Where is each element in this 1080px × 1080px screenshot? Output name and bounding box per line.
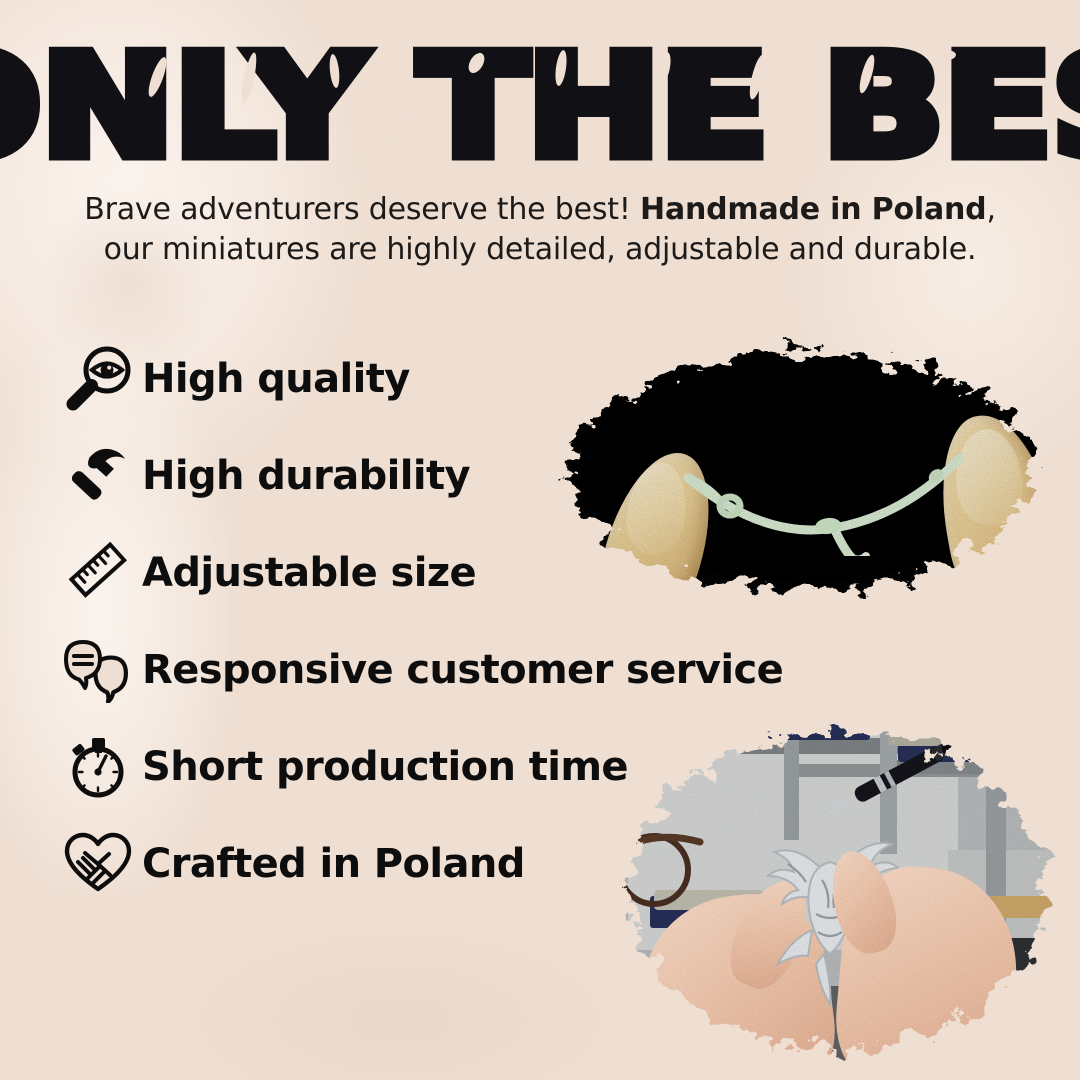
subtitle-tail: ,: [986, 192, 995, 227]
subtitle-line-2: our miniatures are highly detailed, adju…: [0, 230, 1080, 270]
flexible-miniature-part-photo: [524, 318, 1080, 624]
feature-label: Adjustable size: [142, 550, 476, 596]
subtitle-line-1: Brave adventurers deserve the best! Hand…: [0, 190, 1080, 230]
stopwatch-icon: [64, 731, 142, 803]
painting-workshop-photo: [588, 700, 1080, 1080]
feature-label: Responsive customer service: [142, 647, 783, 693]
feature-label: High quality: [142, 356, 410, 402]
ruler-icon: [64, 537, 142, 609]
feature-label: High durability: [142, 453, 470, 499]
feature-label: Crafted in Poland: [142, 841, 525, 887]
parts-tray-top: [760, 722, 870, 740]
speech-bubbles-icon: [64, 634, 142, 706]
poster-canvas: ONLY THE BEST Brave adventurers deserve …: [0, 0, 1080, 1080]
magnifier-eye-icon: [64, 343, 142, 415]
heart-handshake-icon: [64, 828, 142, 900]
page-title: ONLY THE BEST: [0, 38, 1080, 176]
subtitle-lead: Brave adventurers deserve the best!: [84, 192, 640, 227]
loose-miniature-small: [924, 1038, 960, 1072]
flexible-miniature-part: [674, 436, 974, 556]
loose-miniature: [980, 988, 1014, 1044]
subtitle-bold: Handmade in Poland: [640, 192, 986, 227]
subtitle: Brave adventurers deserve the best! Hand…: [0, 190, 1080, 270]
hammer-icon: [64, 440, 142, 512]
feature-label: Short production time: [142, 744, 628, 790]
page-title-text: ONLY THE BEST: [0, 37, 1080, 178]
